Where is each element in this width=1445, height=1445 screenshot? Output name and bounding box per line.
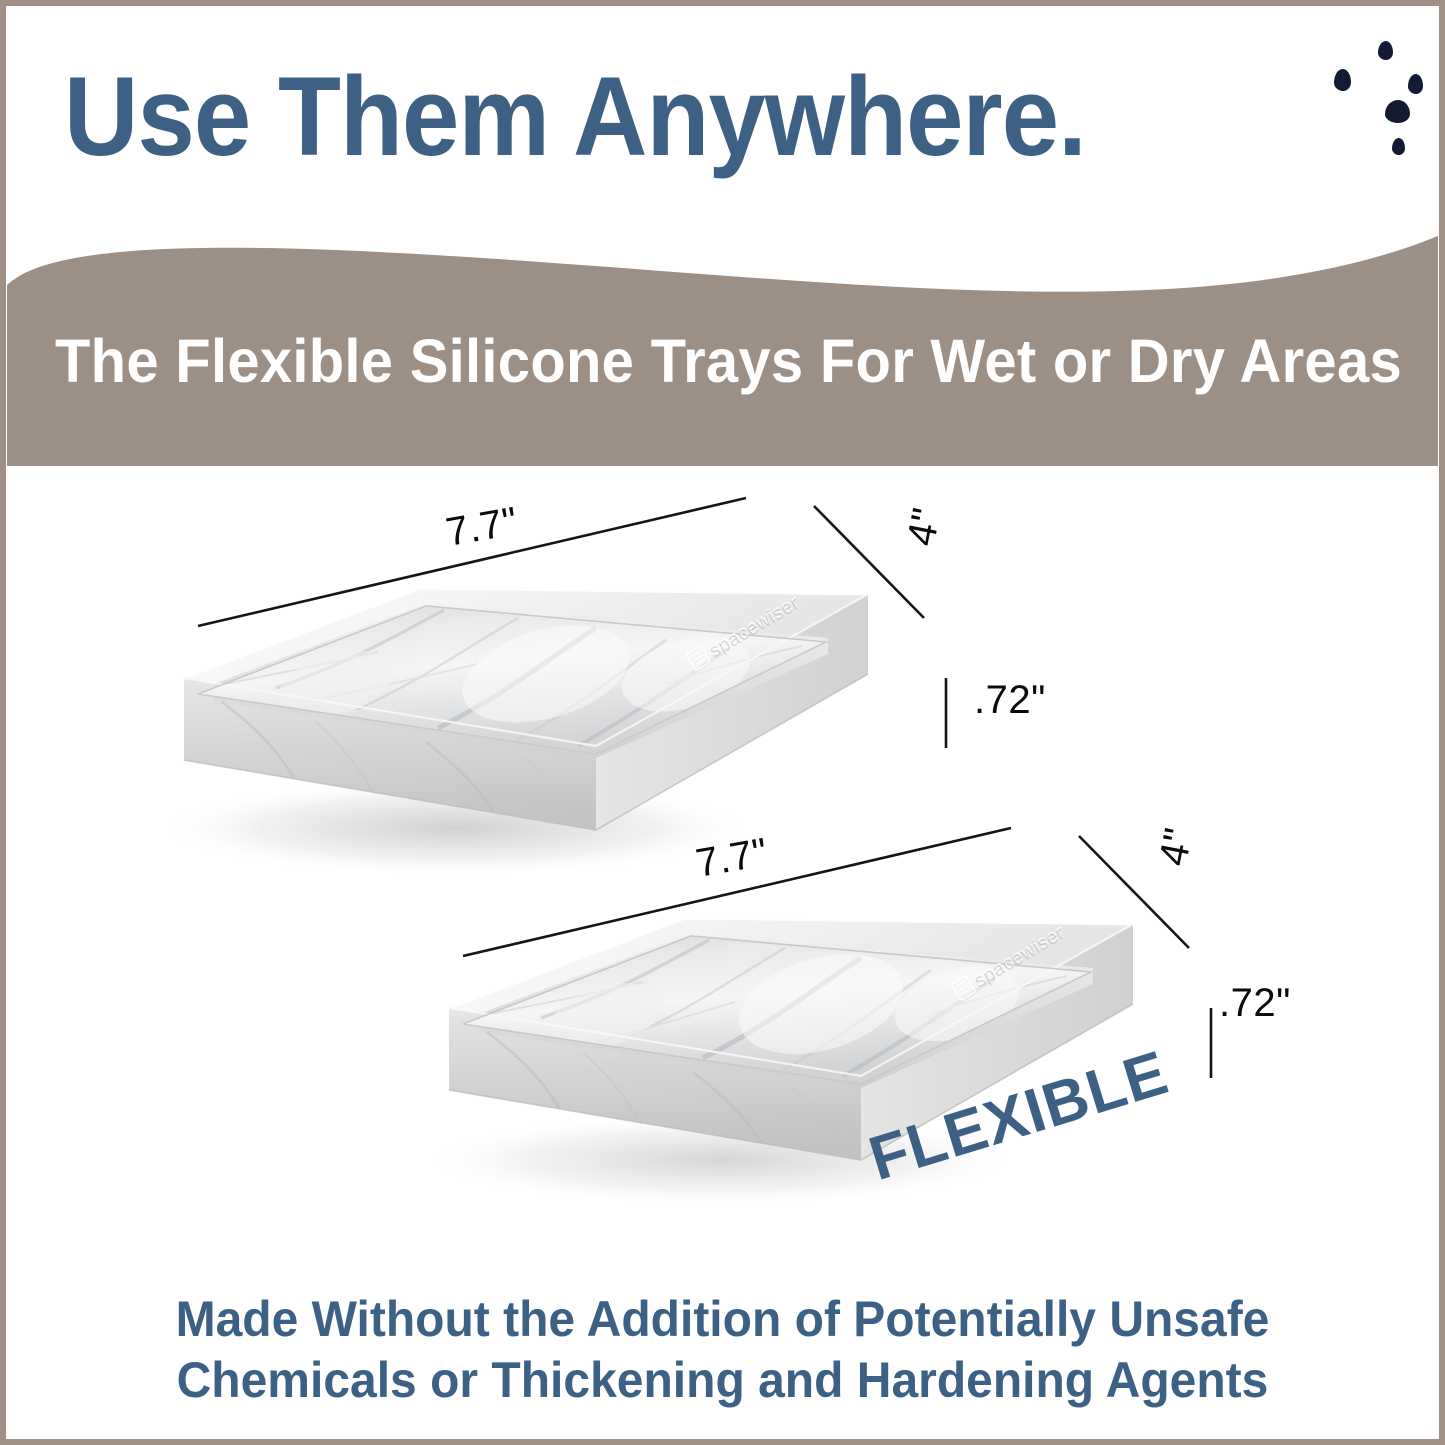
droplet-icon — [1385, 100, 1410, 123]
water-droplets-decoration — [1322, 36, 1442, 176]
footer-claim-line-2: Chemicals or Thickening and Hardening Ag… — [35, 1350, 1411, 1411]
footer-claim-line-1: Made Without the Addition of Potentially… — [35, 1289, 1411, 1350]
tray-lower-height-label: .72" — [1219, 981, 1291, 1026]
droplet-icon — [1392, 138, 1405, 155]
page-headline: Use Them Anywhere. — [64, 58, 1168, 176]
footer-claim: Made Without the Addition of Potentially… — [35, 1289, 1411, 1411]
subtitle-banner: The Flexible Silicone Trays For Wet or D… — [6, 226, 1445, 466]
droplet-icon — [1408, 74, 1423, 94]
droplet-icon — [1378, 41, 1393, 60]
droplet-icon — [1334, 69, 1351, 91]
product-tray-lower: spacewiser spacewiser — [391, 798, 1251, 1238]
tray-upper-height-label: .72" — [974, 678, 1046, 723]
banner-subtitle: The Flexible Silicone Trays For Wet or D… — [42, 326, 1415, 396]
infographic-page: Use Them Anywhere. The Flexible Silicone… — [0, 0, 1445, 1445]
